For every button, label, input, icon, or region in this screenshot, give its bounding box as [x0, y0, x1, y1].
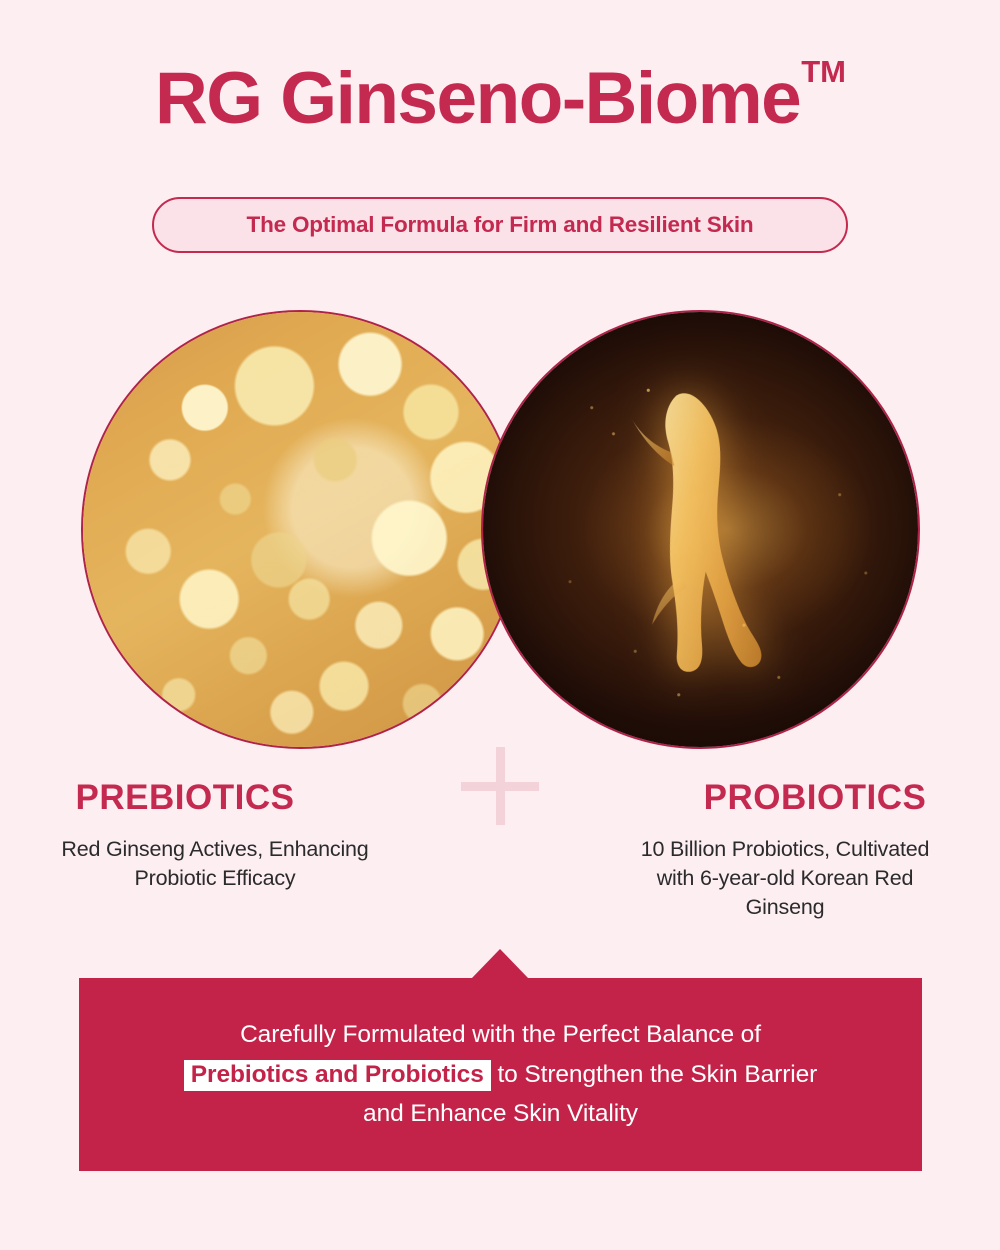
- banner-highlight: Prebiotics and Probiotics: [184, 1060, 491, 1091]
- banner-arrow-notch: [471, 949, 529, 979]
- page-title-text: RG Ginseno-Biome: [155, 58, 800, 139]
- summary-banner-text: Carefully Formulated with the Perfect Ba…: [154, 1015, 847, 1134]
- plus-icon-vertical-bar: [496, 747, 505, 825]
- prebiotics-column: PREBIOTICS Red Ginseng Actives, Enhancin…: [0, 780, 500, 921]
- page-title: RG Ginseno-BiomeTM: [155, 62, 845, 135]
- probiotics-heading: PROBIOTICS: [500, 780, 1000, 815]
- probiotics-image-circle: [481, 310, 920, 749]
- header-title-area: RG Ginseno-BiomeTM: [0, 62, 1000, 135]
- probiotics-column: PROBIOTICS 10 Billion Probiotics, Cultiv…: [500, 780, 1000, 921]
- subtitle-pill: The Optimal Formula for Firm and Resilie…: [152, 197, 848, 253]
- glowing-ginseng-root-photo: [483, 312, 918, 747]
- banner-line-2: to Strengthen the Skin Barrier: [491, 1061, 817, 1088]
- trademark-symbol: TM: [801, 54, 846, 89]
- probiotics-description: 10 Billion Probiotics, Cultivated with 6…: [500, 835, 1000, 921]
- summary-banner: Carefully Formulated with the Perfect Ba…: [79, 978, 922, 1171]
- prebiotics-image-circle: [81, 310, 520, 749]
- golden-particles: [483, 312, 918, 747]
- infographic-page: RG Ginseno-BiomeTM The Optimal Formula f…: [0, 0, 1000, 1250]
- plus-icon: [461, 747, 539, 825]
- banner-line-1: Carefully Formulated with the Perfect Ba…: [240, 1021, 761, 1048]
- prebiotics-heading: PREBIOTICS: [0, 780, 500, 815]
- subtitle-text: The Optimal Formula for Firm and Resilie…: [247, 212, 754, 238]
- banner-line-3: and Enhance Skin Vitality: [363, 1100, 638, 1127]
- golden-oil-bubbles-photo: [83, 312, 518, 747]
- prebiotics-description: Red Ginseng Actives, Enhancing Probiotic…: [0, 835, 500, 893]
